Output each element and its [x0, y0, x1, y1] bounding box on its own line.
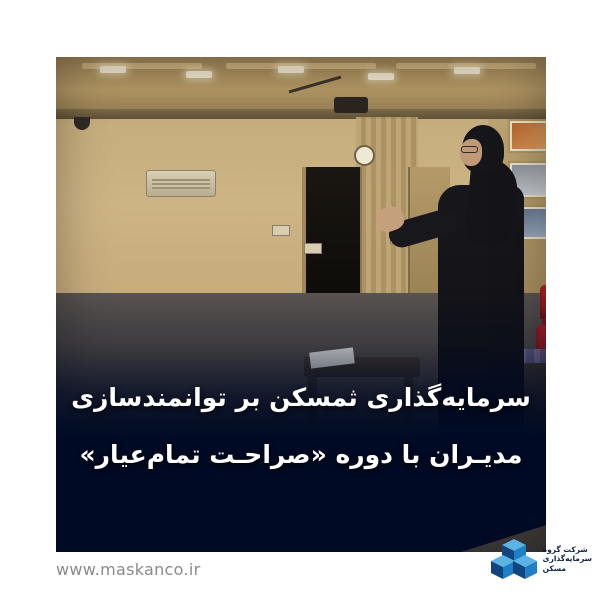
brand-name: شرکت گروه سرمایه‌گذاری مسکن — [543, 545, 592, 573]
poster-canvas: سرمایه‌گذاری ثمسکن بر توانمندسازی مدیـرا… — [0, 0, 600, 600]
stacked-cubes-icon — [491, 538, 537, 580]
glasses-icon — [461, 146, 478, 153]
wall-clock-icon — [354, 145, 375, 166]
headline-line-1: سرمایه‌گذاری ثمسکن بر توانمندسازی — [56, 382, 546, 413]
ceiling-beam — [56, 109, 546, 119]
ceiling-light — [454, 67, 480, 74]
wall-sign — [272, 225, 290, 236]
ceiling-light — [100, 66, 126, 73]
hall-door-open — [302, 167, 362, 295]
wall-sign — [304, 243, 322, 254]
brand-logo-lockup[interactable]: شرکت گروه سرمایه‌گذاری مسکن — [491, 538, 592, 580]
projector-icon — [334, 97, 368, 113]
event-photo-card — [56, 57, 546, 553]
conference-photo — [56, 57, 546, 553]
ceiling-light — [368, 73, 394, 80]
brand-line-2: سرمایه‌گذاری — [543, 554, 592, 563]
brand-line-1: شرکت گروه — [543, 545, 588, 554]
headline-block: سرمایه‌گذاری ثمسکن بر توانمندسازی مدیـرا… — [56, 382, 546, 471]
brand-line-3: مسکن — [543, 564, 566, 573]
site-url[interactable]: www.maskanco.ir — [56, 560, 200, 579]
ceiling-light — [278, 66, 304, 73]
ceiling-light — [186, 71, 212, 78]
headline-line-2: مدیـران با دوره «صراحـت تمام‌عیار» — [56, 439, 546, 470]
air-conditioner — [146, 170, 216, 197]
